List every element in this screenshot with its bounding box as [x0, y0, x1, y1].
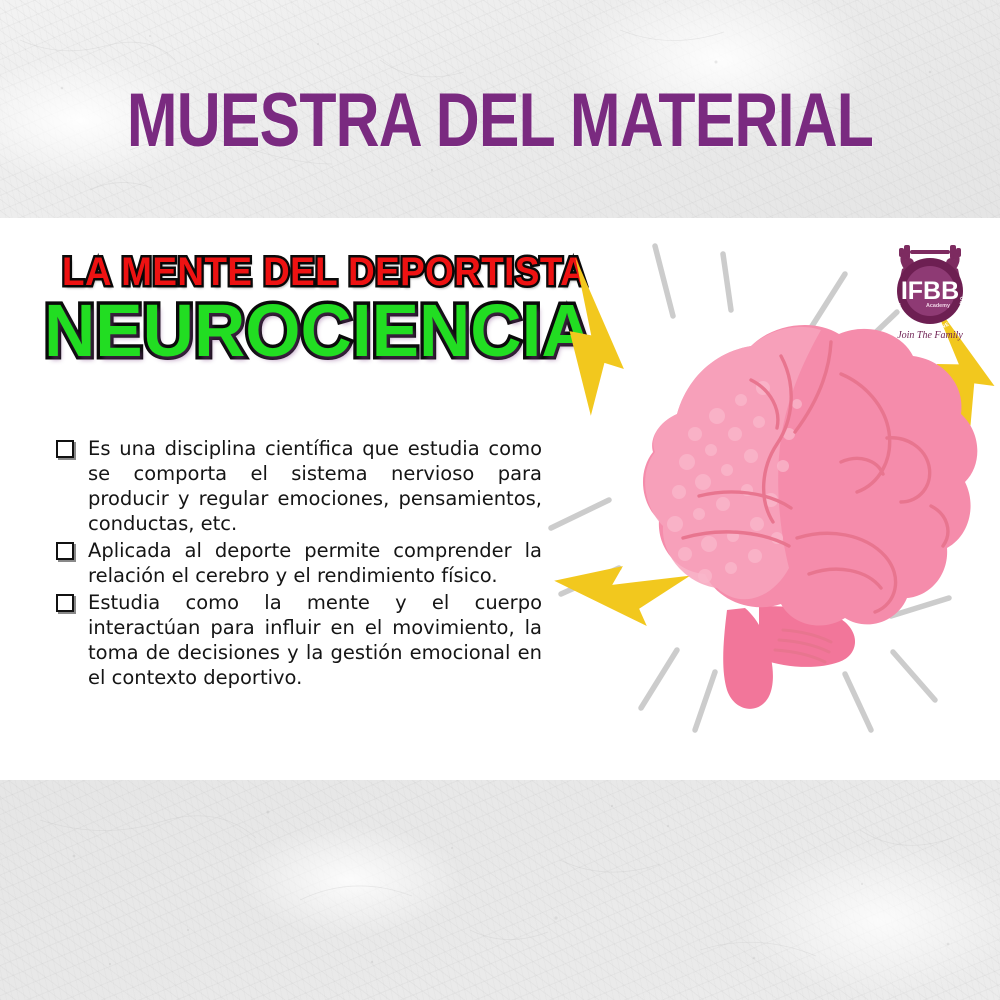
slide-card: LA MENTE DEL DEPORTISTA NEUROCIENCIA Es …	[0, 218, 1000, 780]
slide-headline: NEUROCIENCIA	[44, 294, 593, 368]
hollow-square-bullet-icon	[56, 594, 74, 612]
page-title: MUESTRA DEL MATERIAL	[100, 78, 900, 164]
ifbb-academy-logo: INTERNATIONAL FITNESS AND BODYBUILDING F…	[882, 235, 978, 343]
hollow-square-bullet-icon	[56, 440, 74, 458]
list-item: Es una disciplina científica que estudia…	[52, 436, 542, 536]
poster-canvas: MUESTRA DEL MATERIAL LA MENTE DEL DEPORT…	[0, 0, 1000, 1000]
logo-tagline: Join The Family	[897, 330, 963, 341]
list-item: Estudia como la mente y el cuerpo intera…	[52, 590, 542, 690]
list-item: Aplicada al deporte permite comprender l…	[52, 538, 542, 588]
list-item-text: Es una disciplina científica que estudia…	[88, 437, 542, 535]
logo-sub-label: Academy	[926, 303, 950, 309]
list-item-text: Estudia como la mente y el cuerpo intera…	[88, 591, 542, 689]
hollow-square-bullet-icon	[56, 542, 74, 560]
slide-text-column: LA MENTE DEL DEPORTISTA NEUROCIENCIA Es …	[0, 218, 560, 780]
list-item-text: Aplicada al deporte permite comprender l…	[88, 539, 542, 587]
ifbb-academy-logo-svg: INTERNATIONAL FITNESS AND BODYBUILDING F…	[882, 235, 978, 343]
logo-acronym: IFBB	[901, 277, 959, 305]
bullet-list: Es una disciplina científica que estudia…	[52, 436, 542, 690]
slide-kicker: LA MENTE DEL DEPORTISTA	[62, 252, 587, 292]
